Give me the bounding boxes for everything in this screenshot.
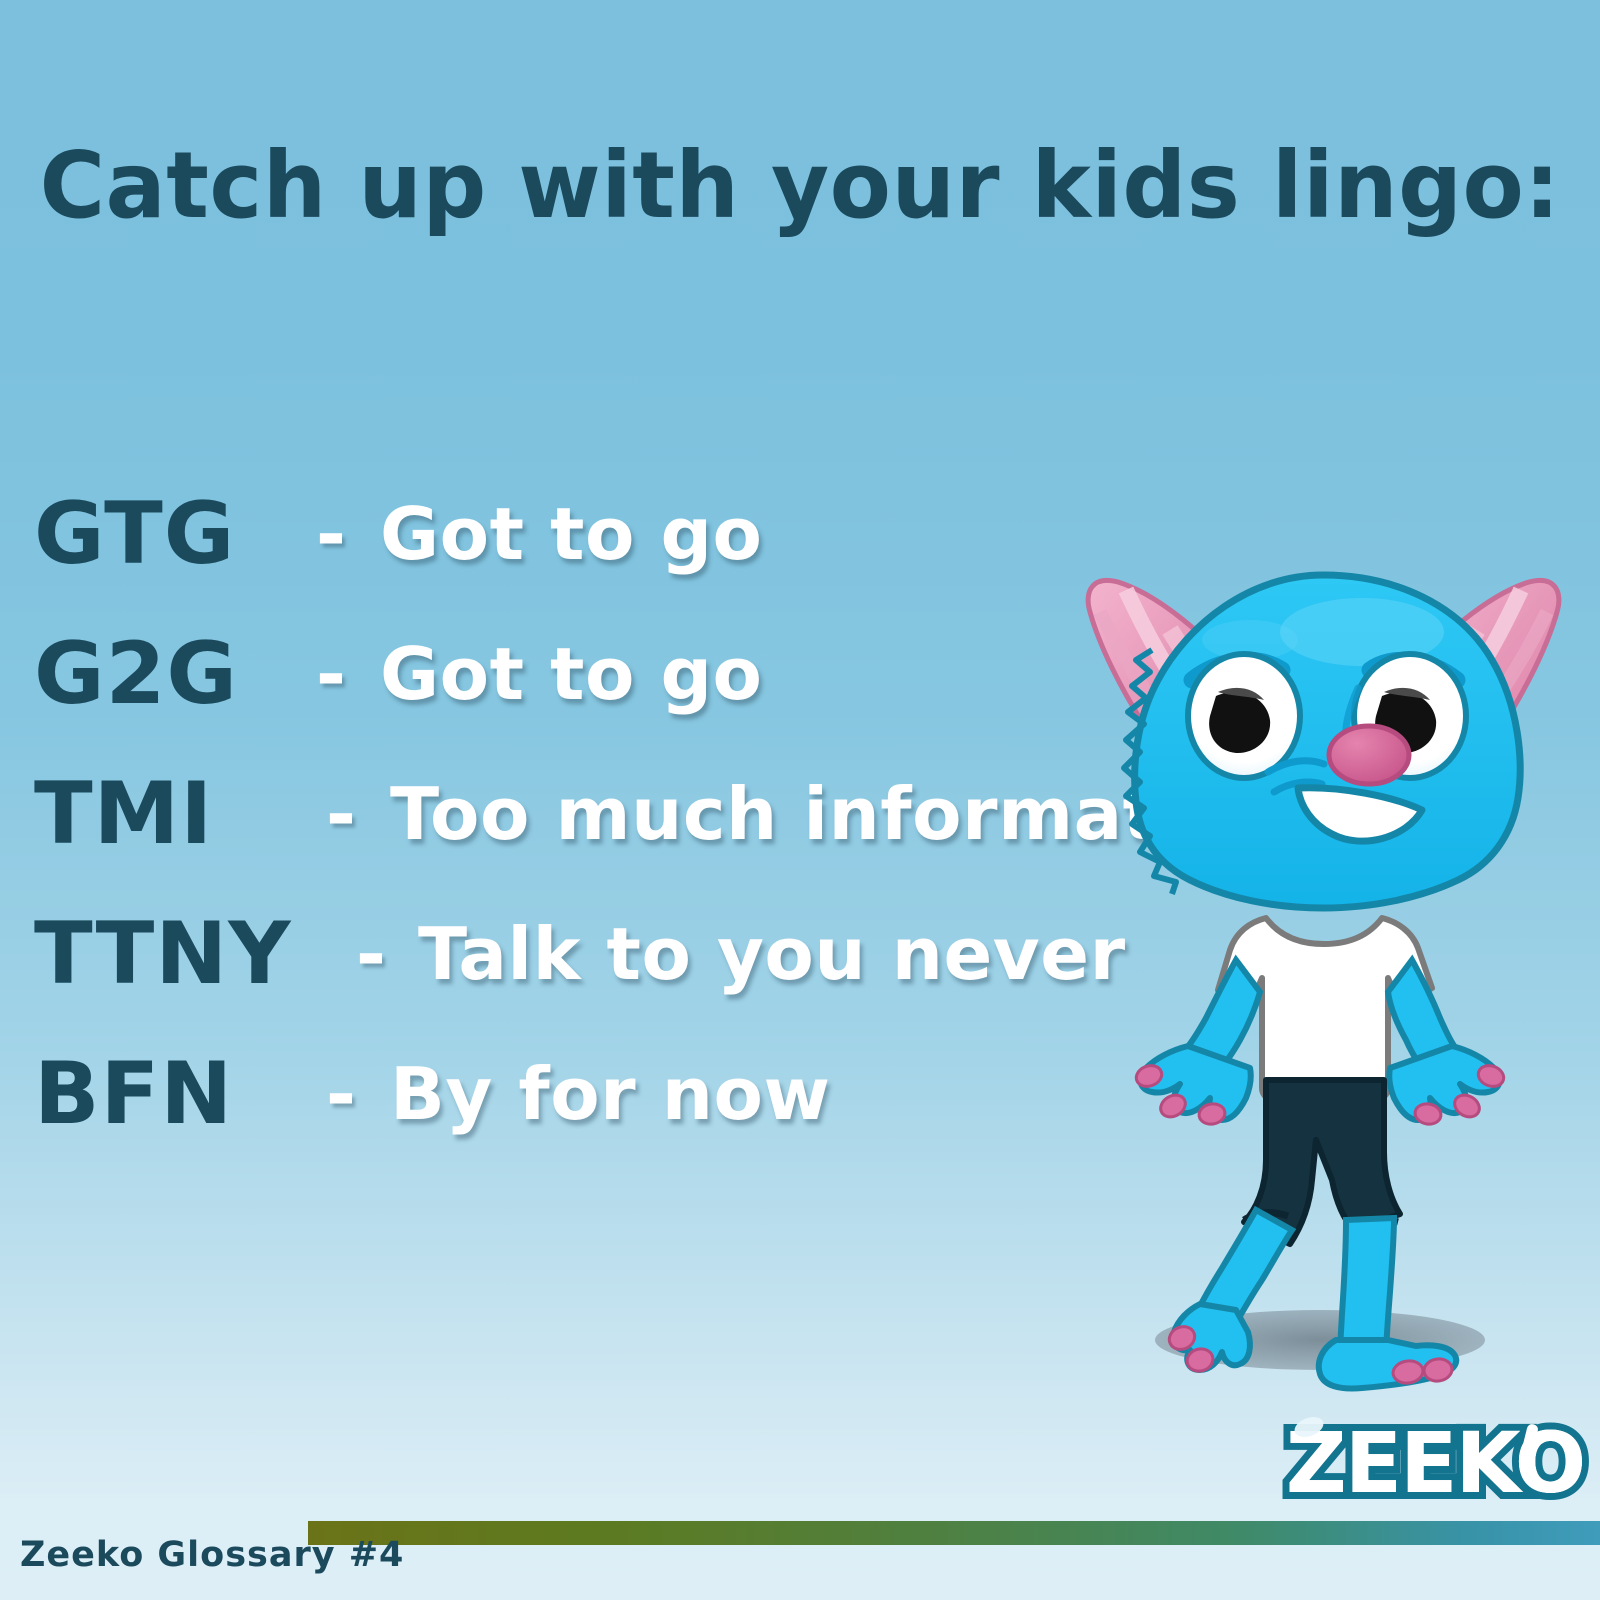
footer-caption: Zeeko Glossary #4 [20,1535,404,1575]
list-item: G2G - Got to go [0,620,1100,760]
glossary-separator: - [326,760,356,868]
glossary-acronym: TMI [0,760,300,868]
list-item: BFN - By for now [0,1040,1100,1180]
glossary-separator: - [356,900,386,1008]
list-item: TMI - Too much information [0,760,1100,900]
zeeko-logo: ZEEKO ZEEKO [1270,1400,1600,1525]
leg-front [1340,1218,1394,1356]
glossary-separator: - [316,480,346,588]
glossary-acronym: TTNY [0,900,300,1008]
list-item: TTNY - Talk to you never [0,900,1100,1040]
glossary-meaning: By for now [390,1040,830,1148]
eye-left [1188,654,1300,778]
nose [1329,726,1409,784]
footer-gradient-bar [308,1521,1600,1545]
glossary-separator: - [316,620,346,728]
glossary-meaning: Talk to you never [418,900,1126,1008]
page-title: Catch up with your kids lingo: [24,132,1576,239]
glossary-meaning: Got to go [380,620,763,728]
glossary-acronym: BFN [0,1040,300,1148]
poster-canvas: Catch up with your kids lingo: GTG - Got… [0,0,1600,1600]
list-item: GTG - Got to go [0,480,1100,620]
glossary-meaning: Got to go [380,480,763,588]
glossary-separator: - [326,1040,356,1148]
glossary-acronym: G2G [0,620,300,728]
monster-mascot-illustration [1040,520,1600,1400]
glossary-list: GTG - Got to go G2G - Got to go TMI - To… [0,480,1100,1180]
glossary-acronym: GTG [0,480,300,588]
